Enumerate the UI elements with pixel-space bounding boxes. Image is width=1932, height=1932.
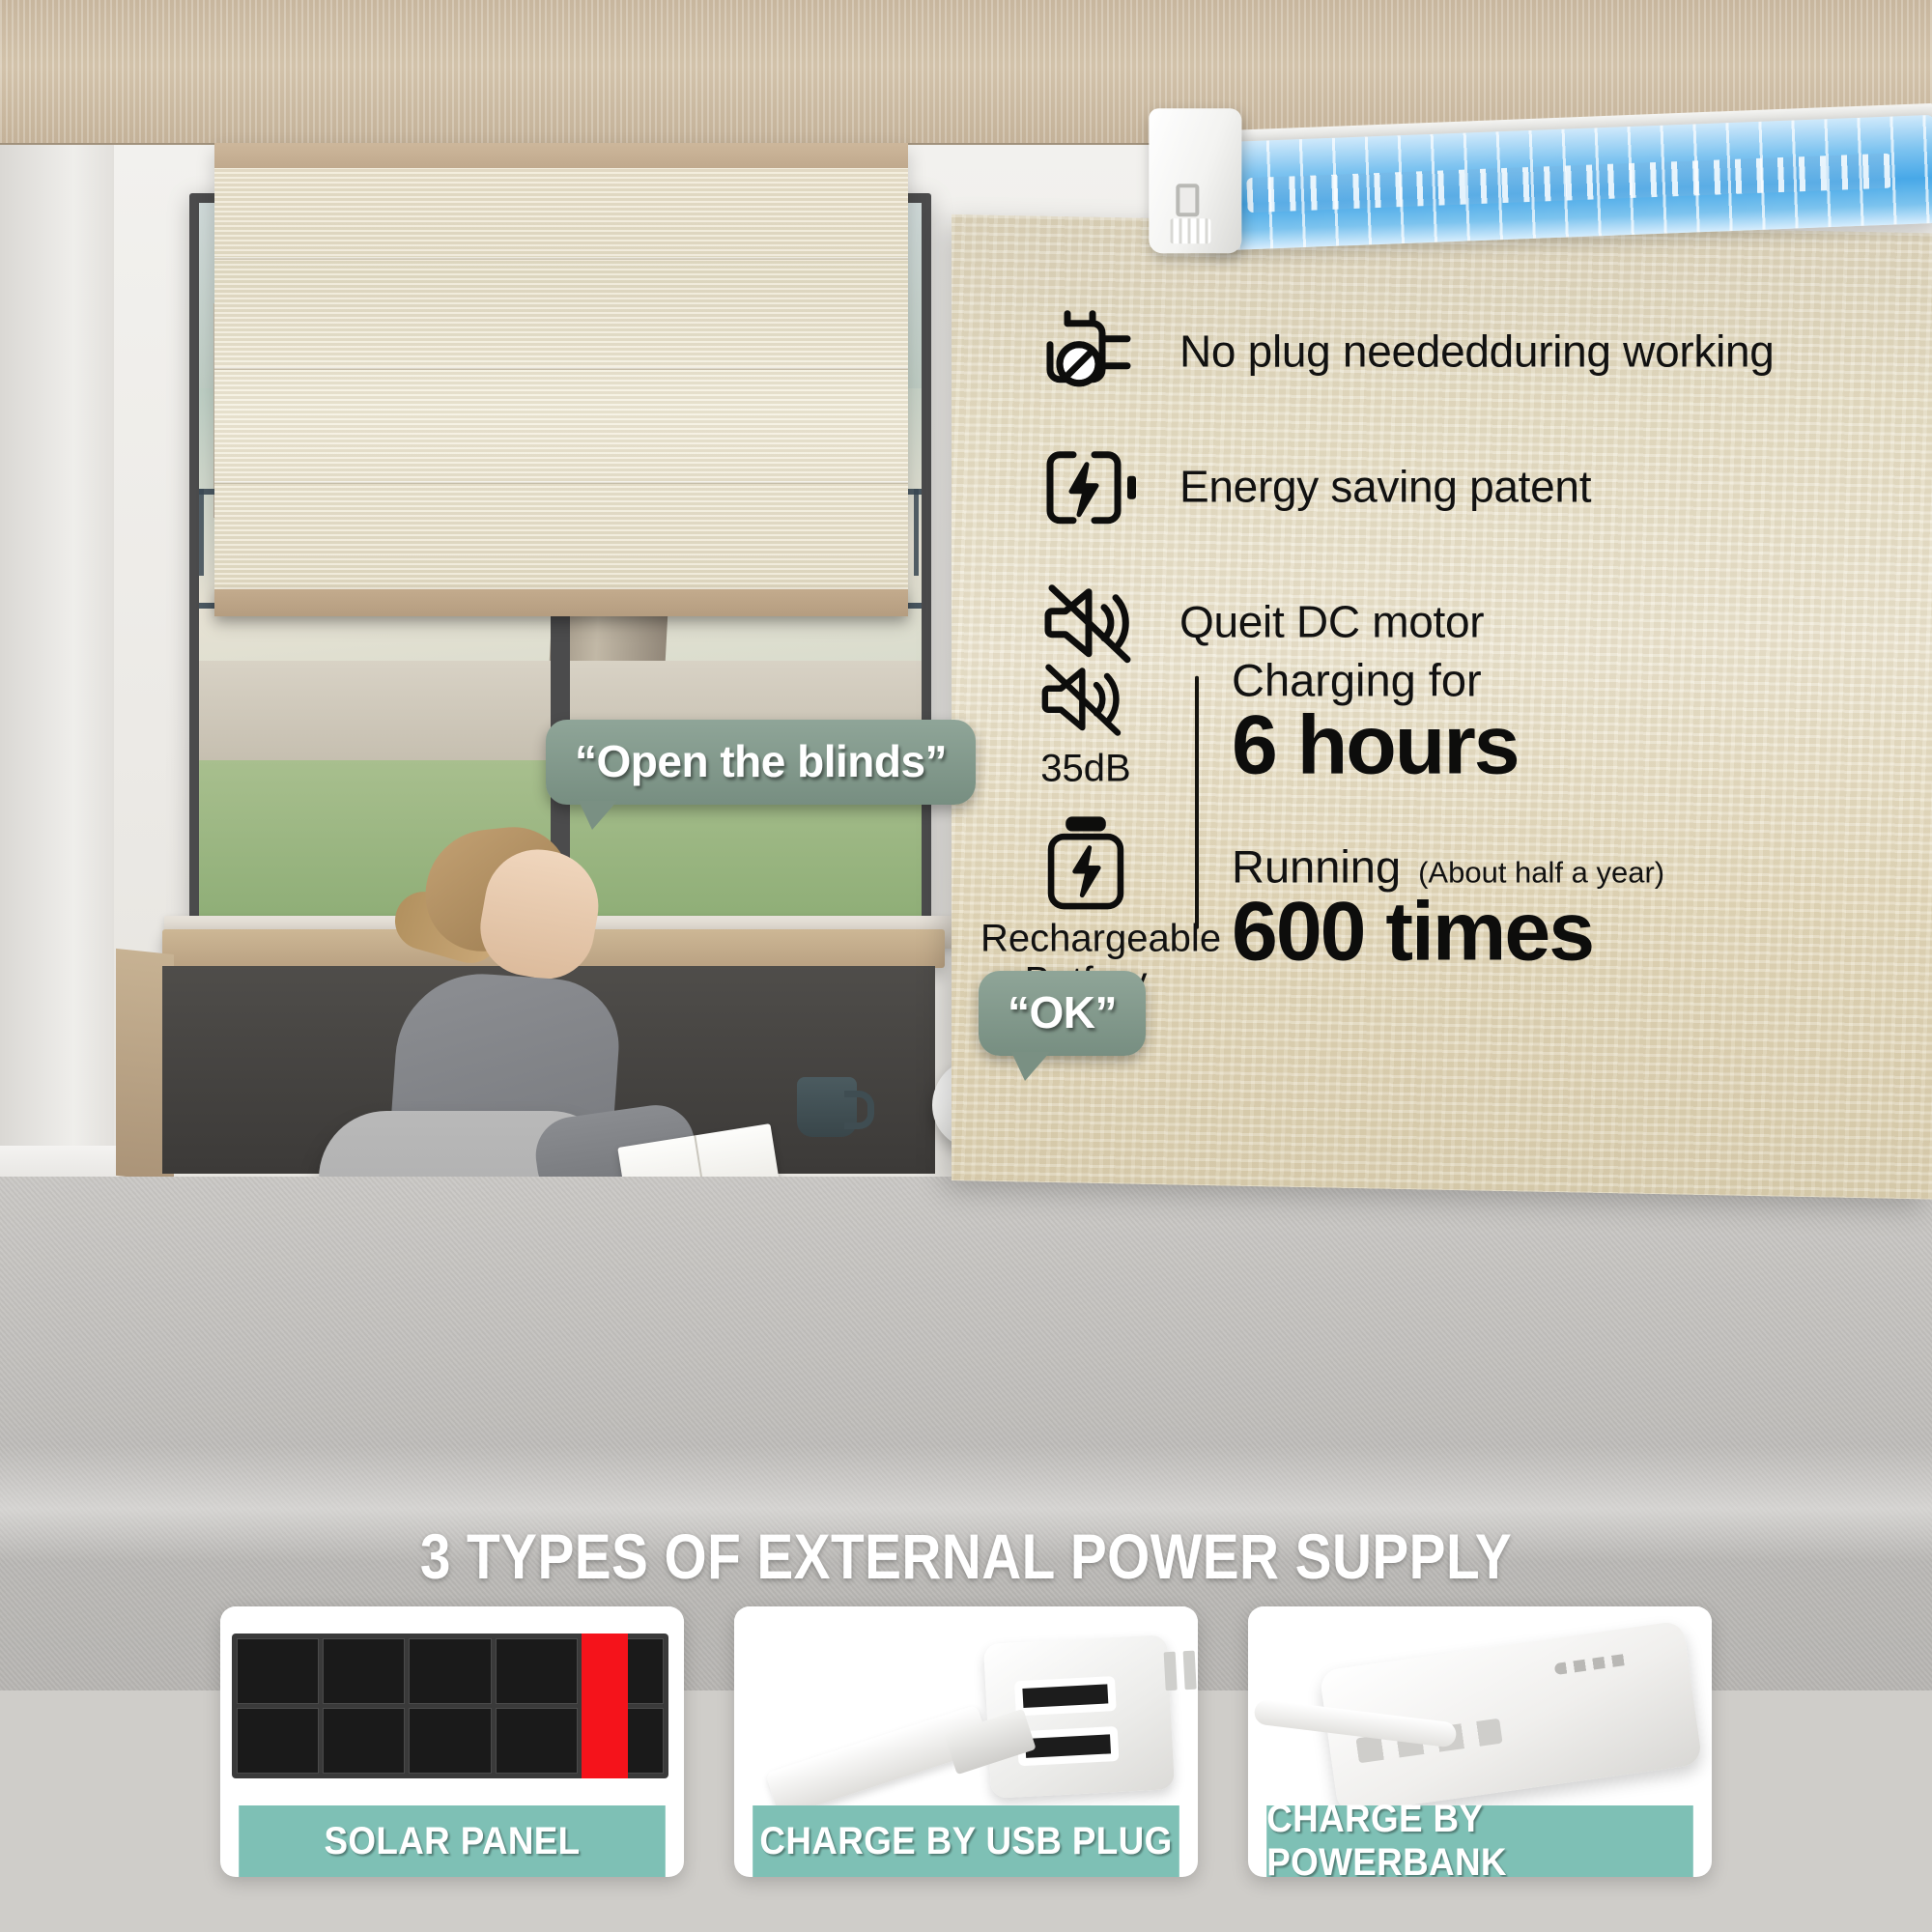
solar-panel-image: [220, 1606, 684, 1805]
usb-plug-image: [734, 1606, 1198, 1805]
mute-speaker-icon: [980, 657, 1191, 742]
stats-left-column: 35dB Rechargeable Batfery: [980, 657, 1191, 1024]
solar-cell: [496, 1708, 578, 1774]
stat-lead: Running: [1232, 843, 1401, 891]
shade-fold: [214, 481, 908, 484]
energy-battery-bolt-icon: [1038, 441, 1147, 534]
usb-port: [1014, 1676, 1117, 1716]
shade-fold: [214, 367, 908, 370]
solar-cell: [409, 1638, 491, 1704]
stat-lead: Charging for: [1232, 657, 1908, 704]
solar-cell: [237, 1708, 319, 1774]
stat-value: 6 hours: [1232, 704, 1908, 789]
solar-cell: [496, 1638, 578, 1704]
stat-running-cycles: Running (About half a year) 600 times: [1232, 843, 1908, 976]
power-supply-cards: SOLAR PANEL CHARGE BY USB PLUG: [0, 1606, 1932, 1887]
card-label: CHARGE BY USB PLUG: [753, 1805, 1179, 1877]
feature-row-energy-saving: Energy saving patent: [1038, 441, 1908, 534]
shade-fold: [214, 257, 908, 260]
solar-cell: [409, 1708, 491, 1774]
feature-label: Queit DC motor: [1179, 597, 1484, 648]
powerbank-led-indicators: [1554, 1653, 1631, 1675]
stat-caption-line1: Rechargeable: [980, 918, 1191, 960]
left-wall: [0, 145, 114, 1207]
solar-cell: [237, 1638, 319, 1704]
card-label: CHARGE BY POWERBANK: [1266, 1805, 1693, 1877]
speech-bubble-open-blinds: “Open the blinds”: [546, 720, 976, 805]
shade-bottom-hem: [214, 589, 908, 616]
usb-charging-port-icon: [1176, 184, 1199, 216]
feature-list: No plug neededduring working Energy savi…: [1038, 306, 1908, 712]
stat-value: 600 times: [1232, 891, 1908, 976]
stats-right-column: Charging for 6 hours Running (About half…: [1232, 657, 1908, 976]
coffee-mug: [797, 1077, 857, 1137]
solar-cell: [323, 1708, 405, 1774]
prong: [1164, 1652, 1178, 1691]
card-usb-plug[interactable]: CHARGE BY USB PLUG: [734, 1606, 1198, 1877]
stat-caption: 35dB: [980, 748, 1191, 790]
rechargeable-battery-icon: [980, 811, 1191, 912]
no-plug-icon: [1038, 306, 1147, 399]
stat-charging-time: Charging for 6 hours: [1232, 657, 1908, 789]
stats-divider: [1195, 676, 1199, 929]
banner-title: 3 TYPES OF EXTERNAL POWER SUPPLY: [135, 1520, 1797, 1593]
feature-label: No plug neededduring working: [1179, 327, 1775, 378]
stat-noise-level: 35dB: [980, 657, 1191, 790]
shade-tree-print: [230, 158, 893, 587]
card-label: SOLAR PANEL: [239, 1805, 666, 1877]
solar-cell: [323, 1638, 405, 1704]
motor-vent: [1170, 218, 1210, 243]
roman-shade-left: [214, 143, 908, 616]
card-solar-panel[interactable]: SOLAR PANEL: [220, 1606, 684, 1877]
speech-bubble-ok: “OK”: [979, 971, 1146, 1056]
prong: [1183, 1651, 1197, 1690]
solar-panel-red-edge: [582, 1634, 628, 1778]
feature-row-no-plug: No plug neededduring working: [1038, 306, 1908, 399]
plug-prongs: [1160, 1650, 1198, 1719]
feature-label: Energy saving patent: [1179, 462, 1591, 513]
powerbank-image: [1248, 1606, 1712, 1805]
motor-head-unit: [1149, 108, 1241, 253]
room-scene: No plug neededduring working Energy savi…: [0, 0, 1932, 1690]
card-powerbank[interactable]: CHARGE BY POWERBANK: [1248, 1606, 1712, 1877]
product-infographic: No plug neededduring working Energy savi…: [0, 0, 1932, 1932]
mute-speaker-icon: [1038, 577, 1147, 669]
